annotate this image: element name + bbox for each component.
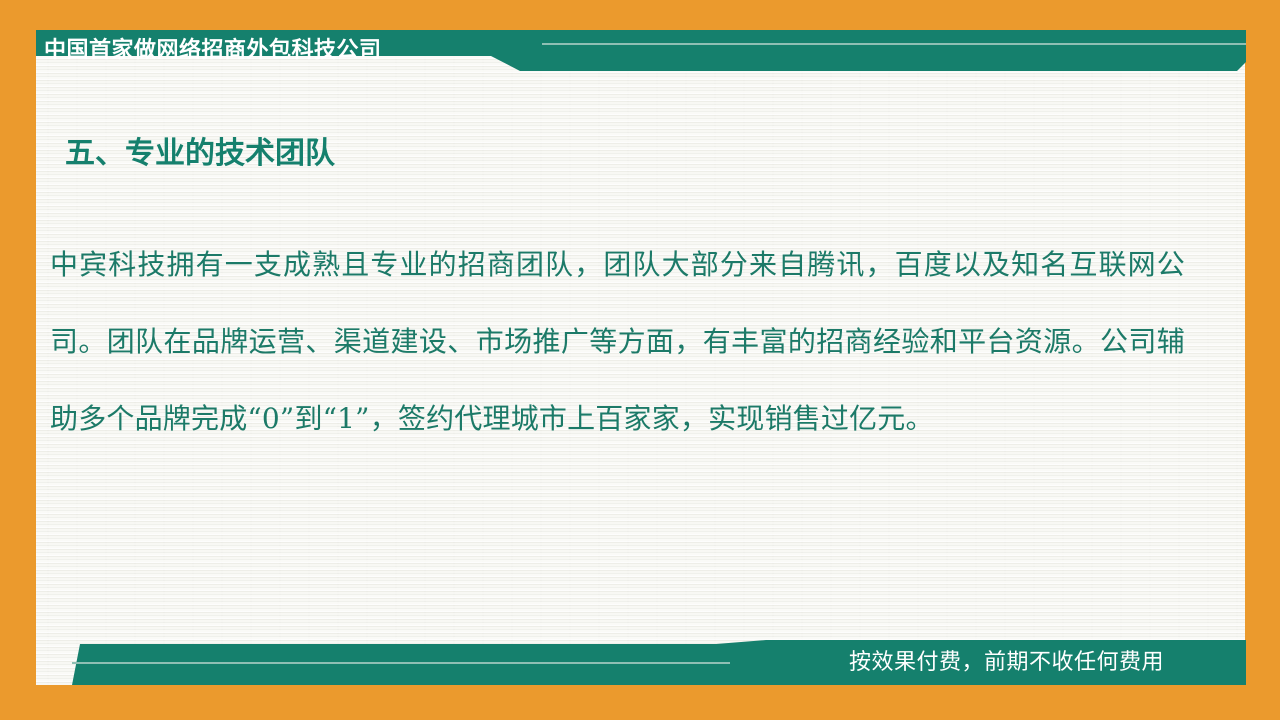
body-paragraph: 中宾科技拥有一支成熟且专业的招商团队，团队大部分来自腾讯，百度以及知名互联网公司… bbox=[50, 226, 1185, 457]
presentation-slide: 中国首家做网络招商外包科技公司 五、专业的技术团队 中宾科技拥有一支成熟且专业的… bbox=[0, 0, 1280, 720]
header-title: 中国首家做网络招商外包科技公司 bbox=[44, 37, 382, 65]
section-heading: 五、专业的技术团队 bbox=[65, 134, 335, 174]
footer-tagline: 按效果付费，前期不收任何费用 bbox=[849, 648, 1164, 678]
